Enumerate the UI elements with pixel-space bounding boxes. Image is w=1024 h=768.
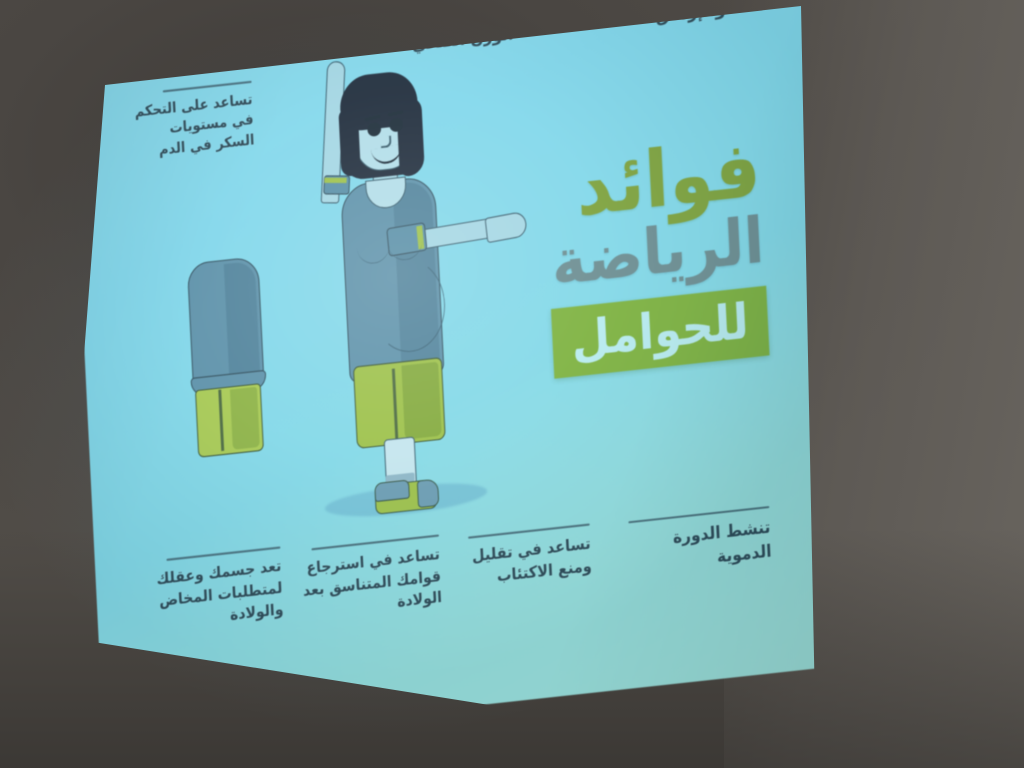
note-depression-text: تساعد في تقليل ومنع الاكتئاب bbox=[472, 534, 593, 586]
title-badge: للحوامل bbox=[551, 286, 770, 379]
slide-title-block: فوائد الرياضة للحوامل bbox=[469, 132, 770, 387]
figure-shorts-shade bbox=[401, 362, 441, 440]
side-figure-shorts-shade bbox=[230, 387, 260, 450]
raised-arm-sleeve-band bbox=[324, 178, 346, 183]
note-blood-sugar: تساعد على التحكم في مستويات السكر في الد… bbox=[128, 81, 255, 165]
figure-shoe-heel bbox=[417, 478, 440, 508]
note-body-shape: تساعد في استرجاع قوامك المتناسق بعد الول… bbox=[296, 534, 442, 624]
note-blood-circulation: تنشط الدورة الدموية bbox=[617, 506, 772, 580]
note-depression: تساعد في تقليل ومنع الاكتئاب bbox=[455, 523, 593, 592]
figure-hair-left bbox=[338, 107, 361, 177]
screenshot-root: فوائد الرياضة للحوامل تساعد على التحكم ف… bbox=[0, 0, 1024, 768]
note-blood-circulation-text: تنشط الدورة الدموية bbox=[672, 517, 771, 567]
note-body-shape-text: تساعد في استرجاع قوامك المتناسق بعد الول… bbox=[303, 546, 443, 611]
side-figure-illustration bbox=[173, 245, 290, 478]
note-labor-preparation: تعد جسمك وعقلك لمتطلبات المخاض والولادة bbox=[134, 546, 284, 637]
note-divider bbox=[166, 546, 280, 561]
note-blood-sugar-text: تساعد على التحكم في مستويات السكر في الد… bbox=[134, 91, 255, 159]
figure-hair-right bbox=[396, 96, 425, 177]
note-labor-preparation-text: تعد جسمك وعقلك لمتطلبات المخاض والولادة bbox=[156, 558, 284, 624]
figure-shoe-toecap bbox=[374, 479, 410, 502]
side-figure-tunic-shade bbox=[224, 261, 261, 384]
note-divider bbox=[163, 81, 252, 93]
presentation-slide: فوائد الرياضة للحوامل تساعد على التحكم ف… bbox=[68, 0, 857, 746]
